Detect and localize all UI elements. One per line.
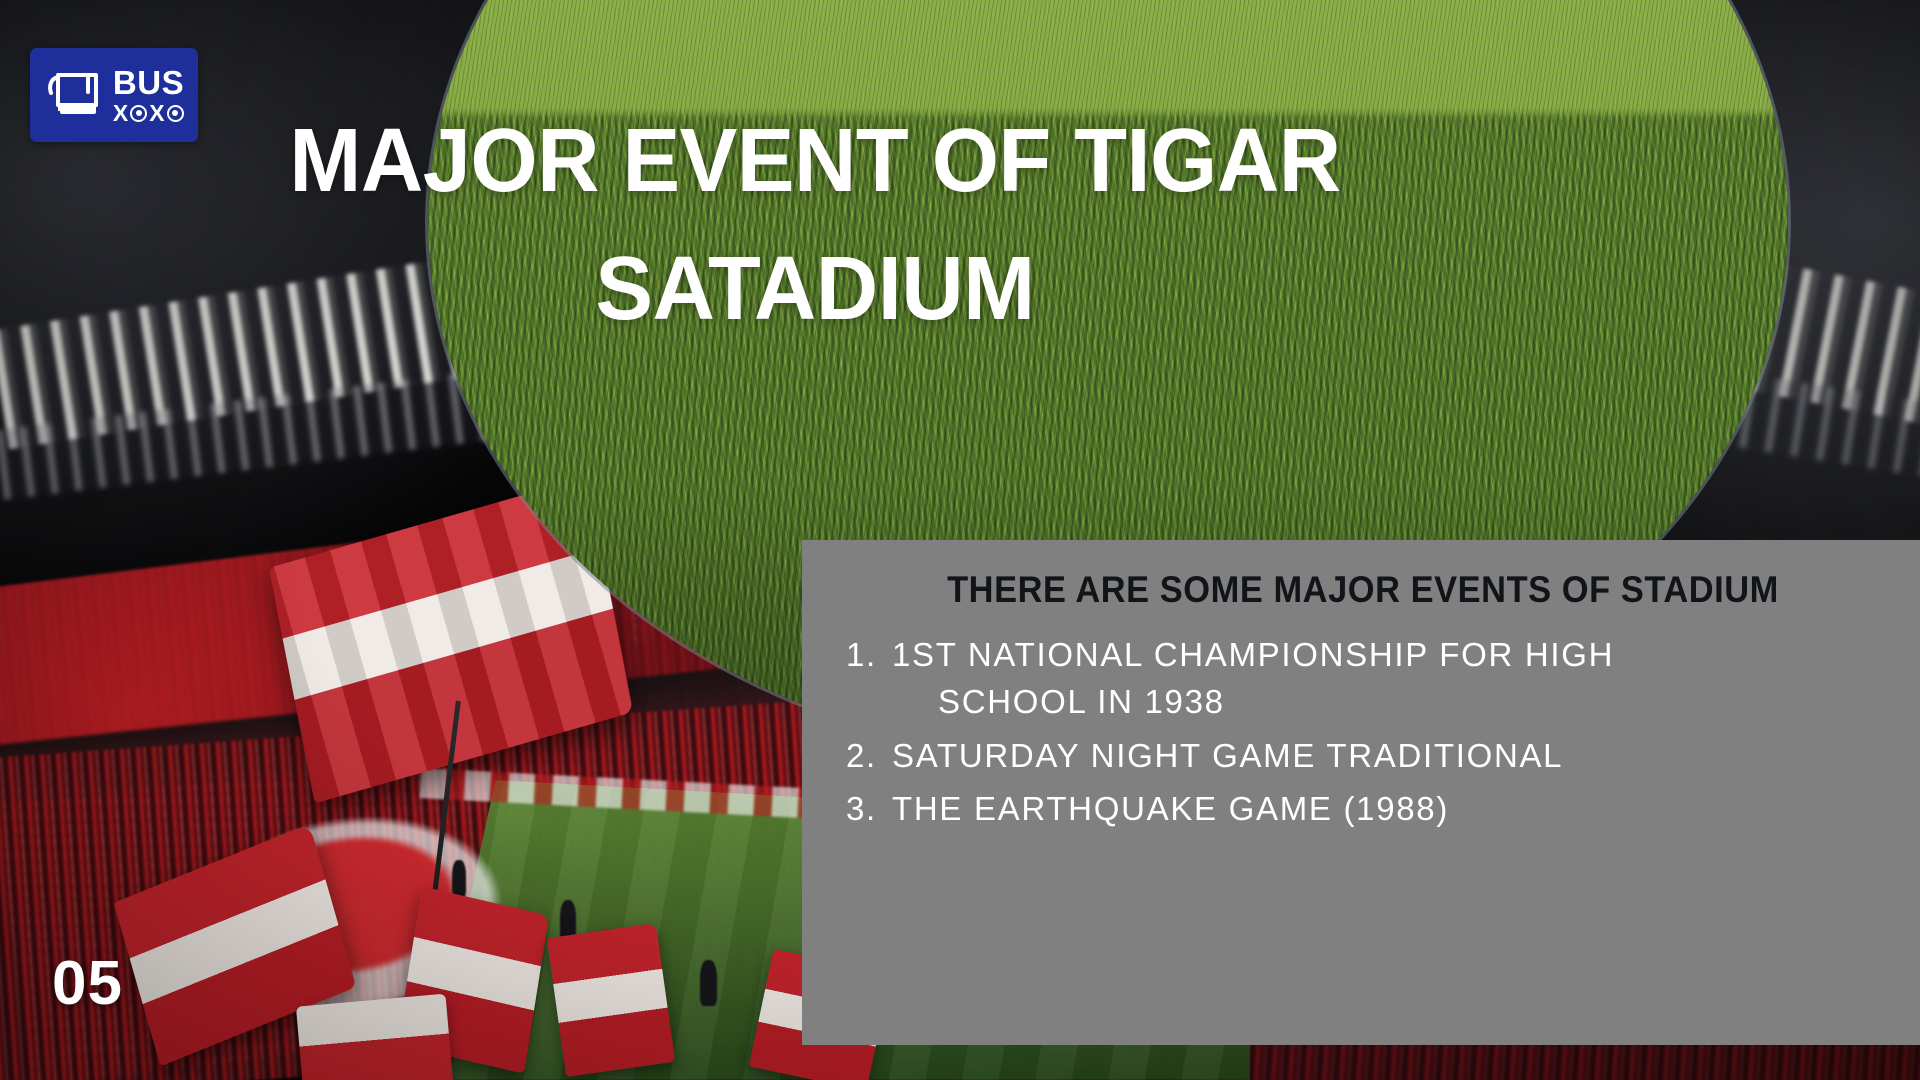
list-item: 2. SATURDAY NIGHT GAME TRADITIONAL bbox=[846, 732, 1880, 780]
list-item-text-line-1: 1ST NATIONAL CHAMPIONSHIP FOR HIGH bbox=[892, 636, 1614, 673]
list-item-text: SATURDAY NIGHT GAME TRADITIONAL bbox=[892, 732, 1880, 780]
list-item-text: THE EARTHQUAKE GAME (1988) bbox=[892, 785, 1880, 833]
logo-o-1 bbox=[130, 105, 147, 122]
slide-title-line-1: MAJOR EVENT OF TIGAR bbox=[225, 98, 1406, 226]
logo-wordmark: BUS X X bbox=[113, 66, 184, 125]
list-item: 1. 1ST NATIONAL CHAMPIONSHIP FOR HIGH SC… bbox=[846, 631, 1880, 726]
list-item-number: 3. bbox=[846, 785, 892, 833]
content-panel: THERE ARE SOME MAJOR EVENTS OF STADIUM 1… bbox=[802, 540, 1920, 1045]
logo-x-1: X bbox=[113, 102, 128, 125]
panel-heading-line-2: STADIUM bbox=[1621, 569, 1779, 610]
logo-o-2 bbox=[167, 105, 184, 122]
list-item-text-line-2: SCHOOL IN 1938 bbox=[892, 678, 1880, 726]
list-item-number: 2. bbox=[846, 732, 892, 780]
logo-x-2: X bbox=[149, 102, 164, 125]
logo-xoxo: X X bbox=[113, 102, 184, 125]
list-item-number: 1. bbox=[846, 631, 892, 726]
list-item: 3. THE EARTHQUAKE GAME (1988) bbox=[846, 785, 1880, 833]
page-number: 05 bbox=[52, 948, 123, 1019]
slide-title-line-2: SATADIUM bbox=[225, 226, 1406, 354]
list-item-text: 1ST NATIONAL CHAMPIONSHIP FOR HIGH SCHOO… bbox=[892, 631, 1880, 726]
panel-heading-line-1: THERE ARE SOME MAJOR EVENTS OF bbox=[947, 569, 1611, 610]
major-events-list: 1. 1ST NATIONAL CHAMPIONSHIP FOR HIGH SC… bbox=[846, 631, 1880, 833]
logo-name: BUS bbox=[113, 66, 184, 99]
slide-canvas: BUS X X MAJOR EVENT OF TIGAR SATADIUM TH… bbox=[0, 0, 1920, 1080]
panel-heading: THERE ARE SOME MAJOR EVENTS OF STADIUM bbox=[882, 566, 1844, 615]
slide-title: MAJOR EVENT OF TIGAR SATADIUM bbox=[225, 98, 1406, 354]
bus-xoxo-logo[interactable]: BUS X X bbox=[30, 48, 198, 142]
bus-icon bbox=[44, 65, 106, 125]
